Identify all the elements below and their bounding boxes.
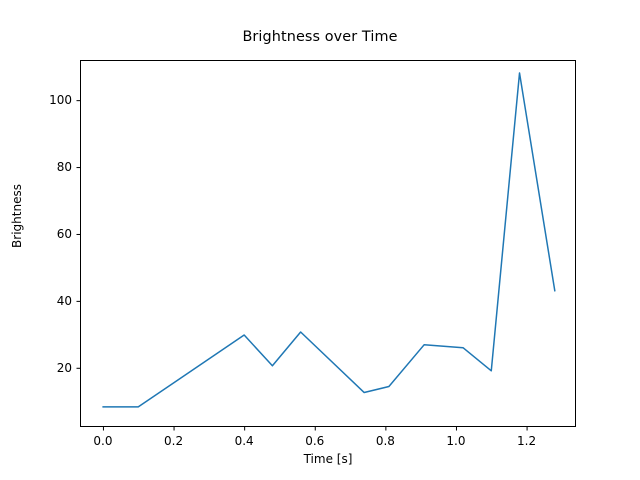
y-axis-label: Brightness <box>10 136 24 296</box>
brightness-line-series <box>103 73 555 407</box>
y-tick-label: 80 <box>20 160 72 174</box>
axes-spines <box>81 61 576 427</box>
x-tick-label: 1.0 <box>446 434 465 448</box>
figure-canvas: Brightness over Time 20406080100 0.00.20… <box>0 0 640 480</box>
x-tick-label: 0.2 <box>164 434 183 448</box>
plot-axes <box>0 0 640 480</box>
y-tick-label: 20 <box>20 361 72 375</box>
axis-tick-marks <box>77 101 528 431</box>
x-tick-label: 0.6 <box>305 434 324 448</box>
x-tick-label: 0.0 <box>93 434 112 448</box>
x-axis-label: Time [s] <box>80 452 576 466</box>
y-tick-label: 40 <box>20 294 72 308</box>
y-tick-label: 100 <box>20 93 72 107</box>
x-tick-label: 1.2 <box>517 434 536 448</box>
x-tick-label: 0.8 <box>376 434 395 448</box>
y-tick-label: 60 <box>20 227 72 241</box>
x-tick-label: 0.4 <box>235 434 254 448</box>
